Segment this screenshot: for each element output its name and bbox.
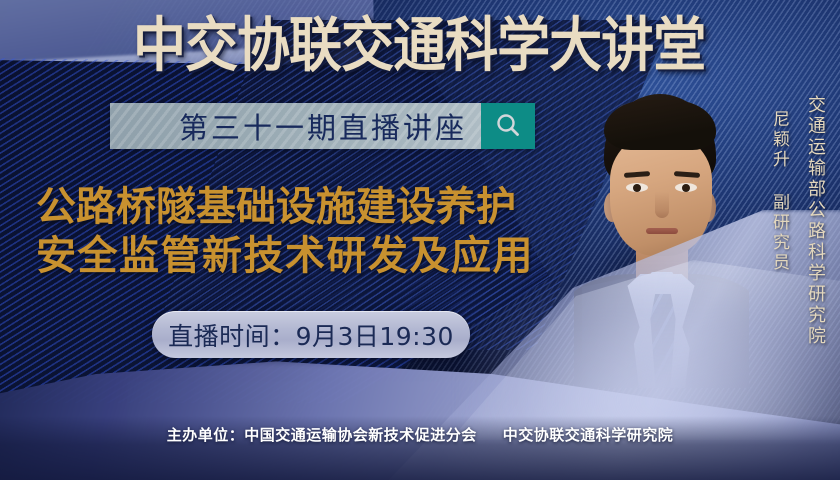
search-button[interactable] <box>481 103 535 149</box>
search-icon <box>493 111 523 141</box>
footer-org-1: 中国交通运输协会新技术促进分会 <box>244 426 477 444</box>
broadcast-time-badge: 直播时间：9月3日19:30 <box>152 311 470 358</box>
search-input[interactable]: 第三十一期直播讲座 <box>110 103 481 149</box>
broadcast-time-text: 直播时间：9月3日19:30 <box>168 317 454 353</box>
lecture-subtitle: 公路桥隧基础设施建设养护 安全监管新技术研发及应用 <box>36 183 596 281</box>
subtitle-line-1: 公路桥隧基础设施建设养护 <box>36 183 596 232</box>
search-input-value: 第三十一期直播讲座 <box>179 105 467 147</box>
organizer-footer: 主办单位：中国交通运输协会新技术促进分会中交协联交通科学研究院 <box>0 424 840 445</box>
background-glow-bottom-right <box>460 270 840 480</box>
speaker-name-title: 尼颖升 副研究员 <box>767 110 792 273</box>
subtitle-line-2: 安全监管新技术研发及应用 <box>36 232 596 281</box>
footer-prefix: 主办单位： <box>167 426 245 444</box>
page-title: 中交协联交通科学大讲堂 <box>133 13 725 79</box>
livestream-poster: 中交协联交通科学大讲堂 第三十一期直播讲座 公路桥隧基础设施建设养护 安全监管新… <box>0 0 840 480</box>
episode-search-bar[interactable]: 第三十一期直播讲座 <box>110 103 535 149</box>
footer-org-2: 中交协联交通科学研究院 <box>503 426 674 444</box>
speaker-organization: 交通运输部公路科学研究院 <box>802 95 828 347</box>
